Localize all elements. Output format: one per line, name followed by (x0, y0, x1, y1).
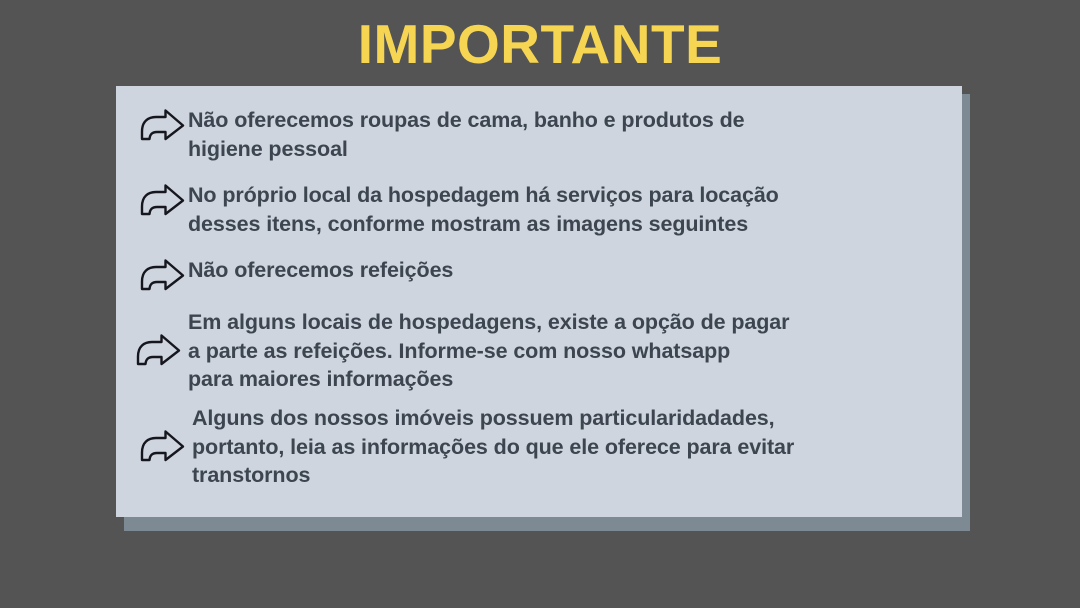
curved-right-arrow-icon (138, 256, 188, 294)
list-item-text: No próprio local da hospedagem há serviç… (188, 181, 948, 238)
curved-right-arrow-icon (138, 106, 188, 144)
page-title: IMPORTANTE (0, 14, 1080, 74)
list-item-text: Alguns dos nossos imóveis possuem partic… (188, 404, 950, 490)
curved-right-arrow-icon (138, 181, 188, 219)
bullet-list: Não oferecemos roupas de cama, banho e p… (116, 86, 962, 517)
list-item-text: Em alguns locais de hospedagens, existe … (184, 308, 946, 394)
curved-right-arrow-icon (138, 429, 188, 465)
list-item: Alguns dos nossos imóveis possuem partic… (138, 404, 950, 490)
list-item-text: Não oferecemos refeições (188, 256, 838, 285)
list-item: Não oferecemos refeições (138, 256, 838, 294)
slide-canvas: IMPORTANTE Não oferecemos roupas de cama… (0, 0, 1080, 608)
content-card: Não oferecemos roupas de cama, banho e p… (116, 86, 962, 517)
list-item-text: Não oferecemos roupas de cama, banho e p… (188, 106, 938, 163)
list-item: No próprio local da hospedagem há serviç… (138, 181, 948, 238)
curved-right-arrow-icon (134, 333, 184, 369)
list-item: Não oferecemos roupas de cama, banho e p… (138, 106, 938, 163)
list-item: Em alguns locais de hospedagens, existe … (134, 308, 946, 394)
